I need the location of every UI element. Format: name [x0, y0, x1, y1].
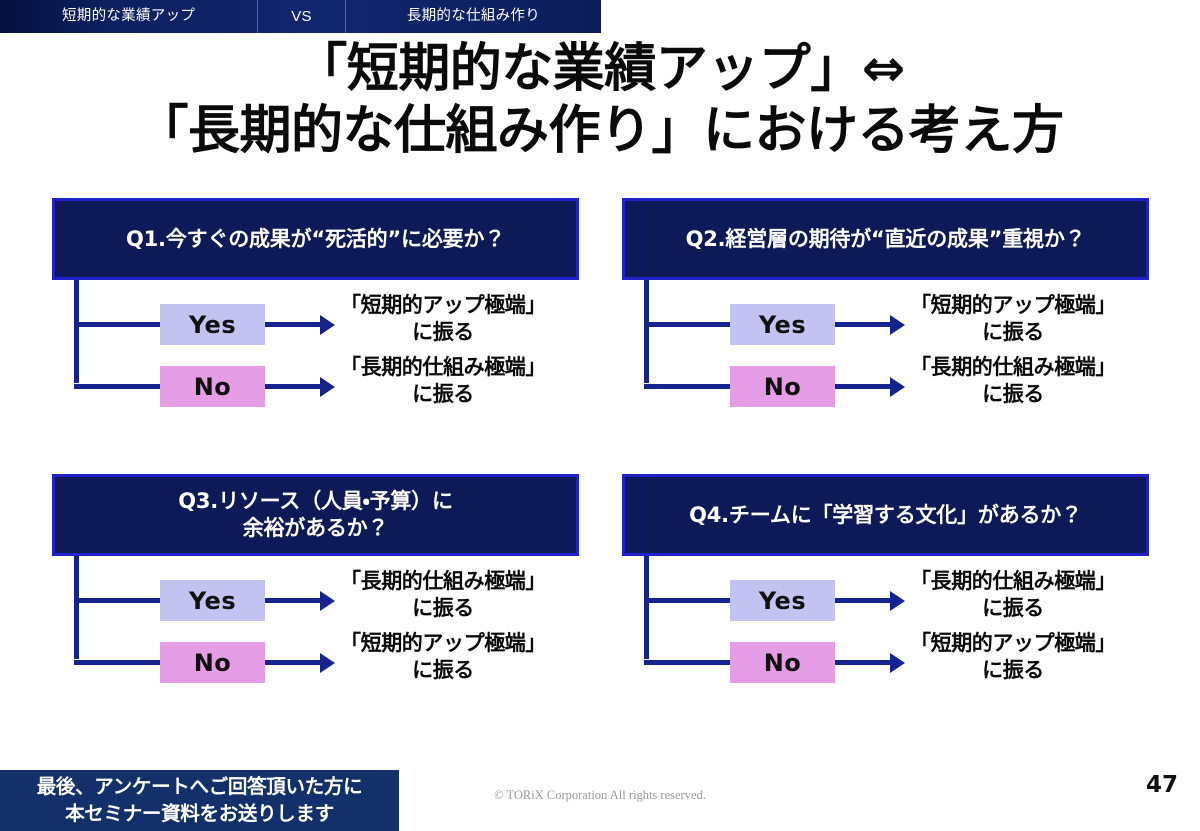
outcome-yes-q2: 「短期的アップ極端」 に振る: [877, 292, 1149, 347]
page-title: 「短期的な業績アップ」⇔ 「長期的な仕組み作り」における考え方: [0, 38, 1200, 163]
question-text-q2-line-1: Q2.経営層の期待が“直近の成果”重視か？: [686, 227, 1086, 251]
question-header-q3: Q3.リソース（人員・予算）に 余裕があるか？: [52, 474, 579, 556]
ribbon-label-long-term: 長期的な仕組み作り: [346, 0, 601, 33]
page-title-line-1: 「短期的な業績アップ」⇔: [0, 38, 1200, 100]
outcome-yes-q4-line-2: に振る: [877, 595, 1149, 622]
outcome-no-q2-line-2: に振る: [877, 381, 1149, 408]
outcome-yes-q3: 「長期的仕組み極端」 に振る: [307, 568, 579, 623]
outcome-yes-q1-line-1: 「短期的アップ極端」: [340, 293, 546, 317]
outcome-no-q4-line-1: 「短期的アップ極端」: [910, 631, 1116, 655]
outcome-no-q4: 「短期的アップ極端」 に振る: [877, 630, 1149, 685]
outcome-yes-q2-line-1: 「短期的アップ極端」: [910, 293, 1116, 317]
question-header-q4: Q4.チームに「学習する文化」があるか？: [622, 474, 1149, 556]
outcome-no-q3-line-2: に振る: [307, 657, 579, 684]
answer-pill-yes-q1[interactable]: Yes: [160, 304, 265, 345]
outcome-no-q1-line-2: に振る: [307, 381, 579, 408]
connector-vertical-q2: [644, 280, 649, 383]
answer-pill-no-q3[interactable]: No: [160, 642, 265, 683]
outcome-yes-q3-line-1: 「長期的仕組み極端」: [340, 569, 546, 593]
question-header-q2: Q2.経営層の期待が“直近の成果”重視か？: [622, 198, 1149, 280]
slide-canvas: 短期的な業績アップ VS 長期的な仕組み作り 「短期的な業績アップ」⇔ 「長期的…: [0, 0, 1200, 831]
page-title-line-2: 「長期的な仕組み作り」における考え方: [0, 100, 1200, 162]
copyright-text: © TORiX Corporation All rights reserved.: [0, 788, 1200, 803]
answer-pill-no-q2[interactable]: No: [730, 366, 835, 407]
page-number: 47: [1146, 772, 1178, 798]
header-ribbon: 短期的な業績アップ VS 長期的な仕組み作り: [0, 0, 601, 33]
outcome-yes-q4: 「長期的仕組み極端」 に振る: [877, 568, 1149, 623]
connector-branch-no-q2: [644, 384, 734, 389]
outcome-yes-q1: 「短期的アップ極端」 に振る: [307, 292, 579, 347]
connector-vertical-q3: [74, 556, 79, 659]
outcome-no-q3: 「短期的アップ極端」 に振る: [307, 630, 579, 685]
question-header-q1: Q1.今すぐの成果が“死活的”に必要か？: [52, 198, 579, 280]
connector-branch-no-q4: [644, 660, 734, 665]
outcome-no-q4-line-2: に振る: [877, 657, 1149, 684]
question-text-q4-line-1: Q4.チームに「学習する文化」があるか？: [689, 503, 1082, 527]
question-text-q1-line-1: Q1.今すぐの成果が“死活的”に必要か？: [126, 227, 505, 251]
outcome-yes-q3-line-2: に振る: [307, 595, 579, 622]
answer-pill-no-q4[interactable]: No: [730, 642, 835, 683]
outcome-no-q2-line-1: 「長期的仕組み極端」: [910, 355, 1116, 379]
outcome-no-q3-line-1: 「短期的アップ極端」: [340, 631, 546, 655]
ribbon-label-short-term: 短期的な業績アップ: [0, 0, 257, 33]
ribbon-label-vs: VS: [258, 0, 345, 33]
answer-pill-yes-q2[interactable]: Yes: [730, 304, 835, 345]
footer-banner-line-2: 本セミナー資料をお送りします: [37, 801, 363, 827]
question-text-q3-line-1: Q3.リソース（人員・予算）に: [178, 489, 453, 513]
outcome-yes-q1-line-2: に振る: [307, 319, 579, 346]
connector-branch-no-q3: [74, 660, 164, 665]
outcome-no-q2: 「長期的仕組み極端」 に振る: [877, 354, 1149, 409]
connector-branch-yes-q3: [74, 598, 164, 603]
decision-block-q1: Q1.今すぐの成果が“死活的”に必要か？ Yes No 「短期的アップ極端」 に…: [52, 198, 579, 413]
connector-branch-yes-q4: [644, 598, 734, 603]
answer-pill-yes-q4[interactable]: Yes: [730, 580, 835, 621]
outcome-no-q1-line-1: 「長期的仕組み極端」: [340, 355, 546, 379]
outcome-yes-q4-line-1: 「長期的仕組み極端」: [910, 569, 1116, 593]
outcome-no-q1: 「長期的仕組み極端」 に振る: [307, 354, 579, 409]
decision-block-q4: Q4.チームに「学習する文化」があるか？ Yes No 「長期的仕組み極端」 に…: [622, 474, 1149, 689]
outcome-yes-q2-line-2: に振る: [877, 319, 1149, 346]
connector-branch-no-q1: [74, 384, 164, 389]
connector-vertical-q4: [644, 556, 649, 659]
answer-pill-yes-q3[interactable]: Yes: [160, 580, 265, 621]
connector-branch-yes-q2: [644, 322, 734, 327]
question-text-q3-line-2: 余裕があるか？: [178, 515, 453, 542]
decision-block-q3: Q3.リソース（人員・予算）に 余裕があるか？ Yes No 「長期的仕組み極端…: [52, 474, 579, 689]
connector-vertical-q1: [74, 280, 79, 383]
answer-pill-no-q1[interactable]: No: [160, 366, 265, 407]
connector-branch-yes-q1: [74, 322, 164, 327]
decision-block-q2: Q2.経営層の期待が“直近の成果”重視か？ Yes No 「短期的アップ極端」 …: [622, 198, 1149, 413]
